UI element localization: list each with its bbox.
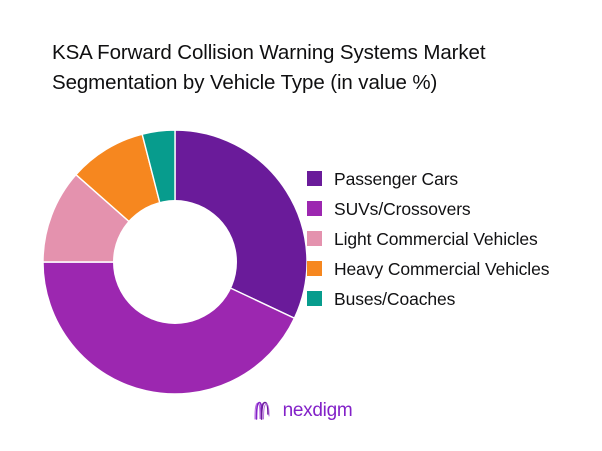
- donut-chart: [43, 130, 307, 394]
- chart-page: KSA Forward Collision Warning Systems Ma…: [0, 0, 602, 451]
- donut-hole: [113, 200, 237, 324]
- legend-item-label: Buses/Coaches: [334, 286, 455, 312]
- chart-legend: Passenger CarsSUVs/CrossoversLight Comme…: [307, 166, 557, 316]
- legend-swatch-icon: [307, 231, 322, 246]
- legend-item[interactable]: SUVs/Crossovers: [307, 196, 557, 222]
- nexdigm-n-wave-icon: [250, 398, 276, 424]
- page-title: KSA Forward Collision Warning Systems Ma…: [52, 38, 542, 98]
- legend-item[interactable]: Buses/Coaches: [307, 286, 557, 312]
- legend-item-label: Heavy Commercial Vehicles: [334, 256, 549, 282]
- legend-swatch-icon: [307, 261, 322, 276]
- legend-item[interactable]: Heavy Commercial Vehicles: [307, 256, 557, 282]
- donut-chart-svg: [43, 130, 307, 394]
- legend-item-label: Light Commercial Vehicles: [334, 226, 538, 252]
- brand-name: nexdigm: [283, 400, 353, 422]
- legend-item[interactable]: Passenger Cars: [307, 166, 557, 192]
- legend-swatch-icon: [307, 291, 322, 306]
- brand-logo: nexdigm: [0, 398, 602, 424]
- legend-item[interactable]: Light Commercial Vehicles: [307, 226, 557, 252]
- legend-item-label: SUVs/Crossovers: [334, 196, 471, 222]
- legend-swatch-icon: [307, 171, 322, 186]
- legend-swatch-icon: [307, 201, 322, 216]
- legend-item-label: Passenger Cars: [334, 166, 458, 192]
